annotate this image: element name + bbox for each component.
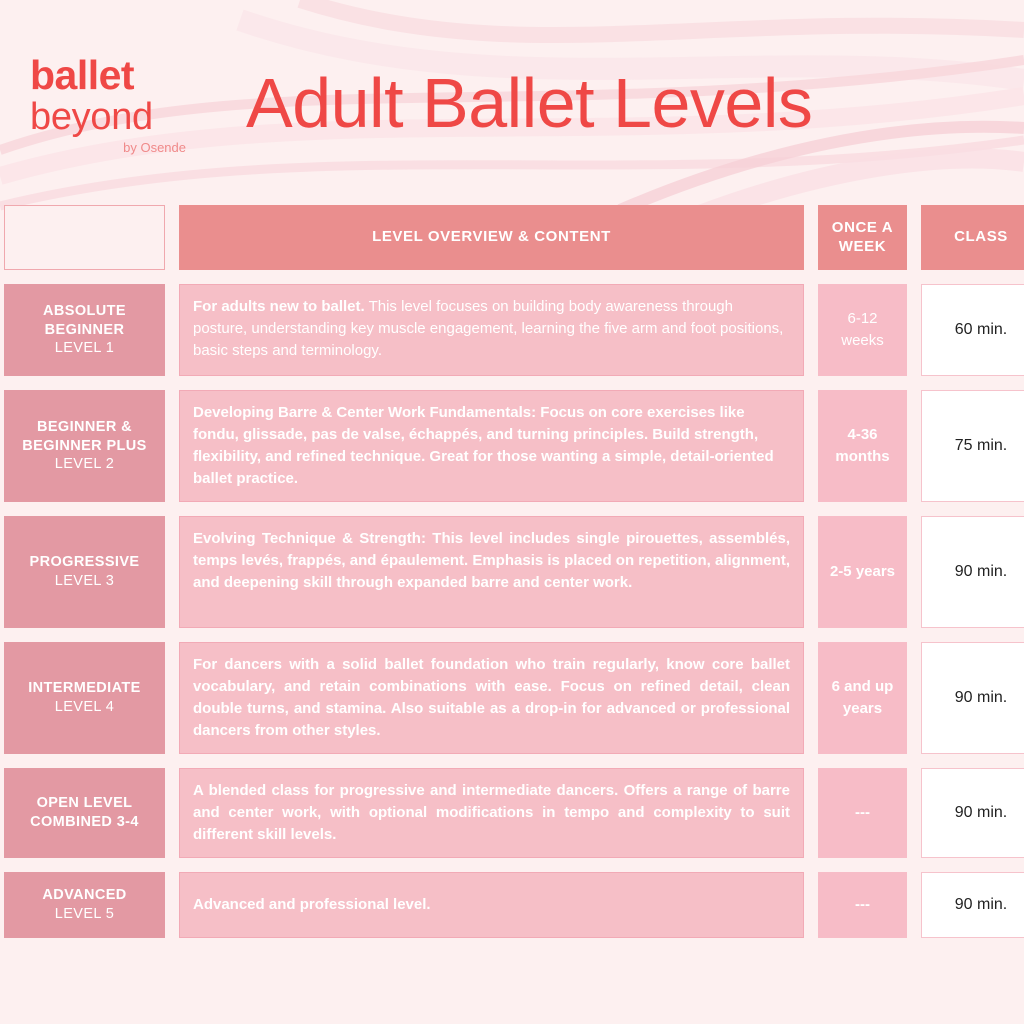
table-header-row: LEVEL OVERVIEW & CONTENT ONCE A WEEK CLA…: [0, 205, 1024, 270]
header-cell-duration: CLASS: [921, 205, 1024, 270]
brand-logo: ballet beyond by Osende: [30, 51, 190, 154]
level-name: INTERMEDIATE: [28, 679, 140, 698]
level-number: LEVEL 4: [55, 698, 115, 717]
overview-cell: Advanced and professional level.: [179, 872, 804, 938]
frequency-line-1: ---: [855, 894, 870, 916]
level-number: COMBINED 3-4: [30, 813, 139, 832]
level-name: ADVANCED: [42, 886, 126, 905]
frequency-line-2: months: [835, 446, 889, 468]
level-number: LEVEL 1: [55, 339, 115, 358]
frequency-cell: 4-36 months: [818, 390, 907, 502]
frequency-cell: ---: [818, 872, 907, 938]
logo-byline: by Osende: [30, 141, 190, 154]
overview-text: A blended class for progressive and inte…: [193, 782, 790, 843]
overview-cell: A blended class for progressive and inte…: [179, 768, 804, 858]
logo-word-beyond: beyond: [30, 98, 190, 136]
page-header: ballet beyond by Osende Adult Ballet Lev…: [0, 0, 1024, 205]
levels-table: LEVEL OVERVIEW & CONTENT ONCE A WEEK CLA…: [0, 205, 1024, 938]
duration-cell: 90 min.: [921, 768, 1024, 858]
frequency-line-1: 6 and up: [832, 676, 894, 698]
level-name: ABSOLUTE BEGINNER: [8, 302, 161, 339]
table-row: PROGRESSIVE LEVEL 3 Evolving Technique &…: [0, 516, 1024, 628]
level-name: OPEN LEVEL: [37, 794, 133, 813]
duration-cell: 75 min.: [921, 390, 1024, 502]
duration-cell: 90 min.: [921, 872, 1024, 938]
overview-text: Evolving Technique & Strength: This leve…: [193, 530, 790, 591]
level-name: BEGINNER & BEGINNER PLUS: [8, 418, 161, 455]
table-row: ADVANCED LEVEL 5 Advanced and profession…: [0, 872, 1024, 938]
frequency-cell: 2-5 years: [818, 516, 907, 628]
level-cell: ABSOLUTE BEGINNER LEVEL 1: [4, 284, 165, 376]
duration-cell: 90 min.: [921, 642, 1024, 754]
page-title: Adult Ballet Levels: [246, 63, 812, 143]
overview-lead: For adults new to ballet.: [193, 298, 365, 315]
overview-cell: Evolving Technique & Strength: This leve…: [179, 516, 804, 628]
frequency-line-1: 4-36: [847, 424, 877, 446]
level-cell: BEGINNER & BEGINNER PLUS LEVEL 2: [4, 390, 165, 502]
frequency-line-2: years: [843, 698, 882, 720]
level-cell: ADVANCED LEVEL 5: [4, 872, 165, 938]
header-cell-frequency: ONCE A WEEK: [818, 205, 907, 270]
level-number: LEVEL 2: [55, 455, 115, 474]
frequency-line-2: weeks: [841, 330, 884, 352]
overview-text: Advanced and professional level.: [193, 894, 431, 916]
level-number: LEVEL 3: [55, 572, 115, 591]
level-cell: PROGRESSIVE LEVEL 3: [4, 516, 165, 628]
header-cell-overview: LEVEL OVERVIEW & CONTENT: [179, 205, 804, 270]
overview-cell: Developing Barre & Center Work Fundament…: [179, 390, 804, 502]
level-number: LEVEL 5: [55, 905, 115, 924]
duration-cell: 60 min.: [921, 284, 1024, 376]
overview-text: For dancers with a solid ballet foundati…: [193, 656, 790, 739]
duration-cell: 90 min.: [921, 516, 1024, 628]
level-cell: INTERMEDIATE LEVEL 4: [4, 642, 165, 754]
frequency-line-1: 6-12: [847, 308, 877, 330]
overview-cell: For dancers with a solid ballet foundati…: [179, 642, 804, 754]
table-row: BEGINNER & BEGINNER PLUS LEVEL 2 Develop…: [0, 390, 1024, 502]
frequency-line-1: ---: [855, 802, 870, 824]
level-cell: OPEN LEVEL COMBINED 3-4: [4, 768, 165, 858]
table-row: INTERMEDIATE LEVEL 4 For dancers with a …: [0, 642, 1024, 754]
table-row: ABSOLUTE BEGINNER LEVEL 1 For adults new…: [0, 284, 1024, 376]
table-row: OPEN LEVEL COMBINED 3-4 A blended class …: [0, 768, 1024, 858]
frequency-cell: 6-12 weeks: [818, 284, 907, 376]
overview-cell: For adults new to ballet. This level foc…: [179, 284, 804, 376]
logo-word-ballet: ballet: [30, 55, 190, 96]
header-cell-level: [4, 205, 165, 270]
overview-text: Developing Barre & Center Work Fundament…: [193, 404, 774, 487]
frequency-cell: 6 and up years: [818, 642, 907, 754]
frequency-line-1: 2-5 years: [830, 561, 895, 583]
frequency-cell: ---: [818, 768, 907, 858]
level-name: PROGRESSIVE: [30, 553, 140, 572]
